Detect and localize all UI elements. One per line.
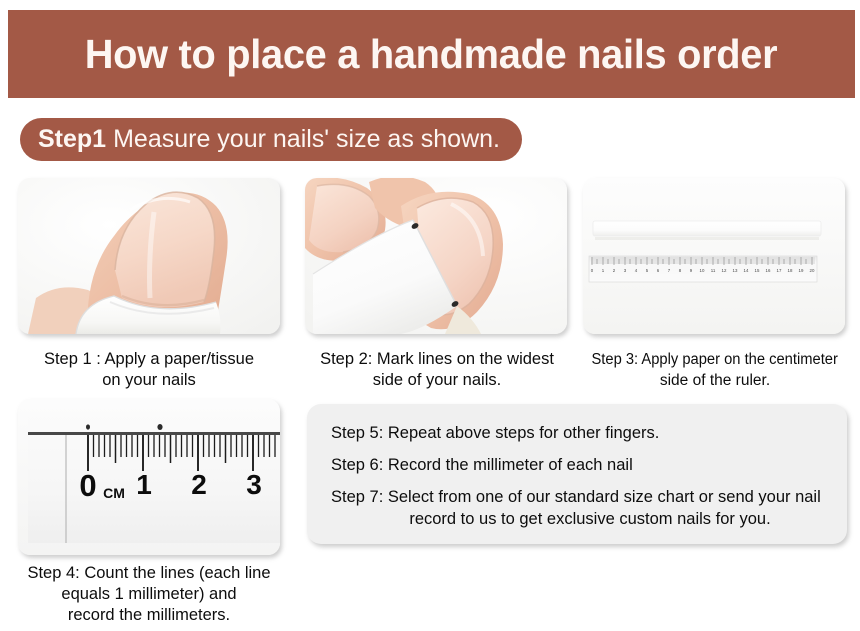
steps-5-7-panel: Step 5: Repeat above steps for other fin…: [307, 404, 847, 544]
caption-step-2: Step 2: Mark lines on the widest side of…: [296, 349, 578, 391]
panel-step-5: Step 5: Repeat above steps for other fin…: [331, 422, 823, 444]
paper-mark-right: [157, 424, 162, 430]
step1-pill-text: Measure your nails' size as shown.: [113, 125, 500, 154]
finger-with-paper-illustration: [18, 178, 280, 334]
page-title: How to place a handmade nails order: [85, 31, 778, 78]
caption-step-2-line-2: side of your nails.: [296, 370, 578, 391]
svg-text:13: 13: [733, 268, 738, 273]
caption-step-4-line-2: equals 1 millimeter) and: [8, 584, 290, 605]
caption-step-3-line-2: side of the ruler.: [574, 370, 856, 391]
ruler-tick-label-3: 3: [246, 469, 262, 500]
ruler-unit-label: CM: [103, 485, 125, 501]
caption-step-3: Step 3: Apply paper on the centimeter si…: [574, 349, 856, 391]
caption-step-2-line-1: Step 2: Mark lines on the widest: [296, 349, 578, 370]
ruler-tick-label-2: 2: [191, 469, 207, 500]
caption-step-4-line-1: Step 4: Count the lines (each line: [8, 563, 290, 584]
caption-step-1-line-1: Step 1 : Apply a paper/tissue: [8, 349, 290, 370]
ruler-small-numbers: 012 345 678 91011 121314 151617 181920: [591, 268, 815, 273]
step1-pill-bold-label: Step1: [38, 125, 106, 154]
caption-step-3-line-1: Step 3: Apply paper on the centimeter: [592, 349, 838, 370]
svg-text:15: 15: [755, 268, 760, 273]
panel-step-7-line-2: record to us to get exclusive custom nai…: [331, 508, 823, 530]
panel-step-7-line-1: Step 7: Select from one of our standard …: [331, 488, 821, 506]
svg-text:20: 20: [810, 268, 815, 273]
ruler-tick-label-1: 1: [136, 469, 152, 500]
paper-on-ruler-illustration: 012 345 678 91011 121314 151617 181920: [583, 178, 845, 334]
ruler-small-ticks: [592, 257, 812, 265]
svg-text:10: 10: [700, 268, 705, 273]
svg-text:16: 16: [766, 268, 771, 273]
panel-step-7: Step 7: Select from one of our standard …: [331, 486, 823, 530]
panel-step-6: Step 6: Record the millimeter of each na…: [331, 454, 823, 476]
photo-marking-paper: [305, 178, 567, 334]
caption-step-4-line-3: record the millimeters.: [8, 605, 290, 626]
photo-ruler-closeup: 0 CM 1 2 3: [18, 399, 280, 555]
svg-text:19: 19: [799, 268, 804, 273]
ruler-closeup-illustration: 0 CM 1 2 3: [18, 399, 280, 555]
ruler-zero-label: 0: [79, 468, 96, 503]
caption-step-1-line-2: on your nails: [8, 370, 290, 391]
step1-pill: Step1 Measure your nails' size as shown.: [20, 118, 522, 161]
header-banner: How to place a handmade nails order: [8, 10, 855, 98]
photo-paper-on-ruler: 012 345 678 91011 121314 151617 181920: [583, 178, 845, 334]
caption-step-1: Step 1 : Apply a paper/tissue on your na…: [8, 349, 290, 391]
svg-text:17: 17: [777, 268, 782, 273]
svg-text:12: 12: [722, 268, 727, 273]
marking-paper-illustration: [305, 178, 567, 334]
svg-text:11: 11: [711, 268, 716, 273]
caption-step-4: Step 4: Count the lines (each line equal…: [8, 563, 290, 626]
svg-text:18: 18: [788, 268, 793, 273]
paper-mark-left: [86, 424, 90, 429]
photo-finger-with-paper: [18, 178, 280, 334]
svg-text:14: 14: [744, 268, 749, 273]
